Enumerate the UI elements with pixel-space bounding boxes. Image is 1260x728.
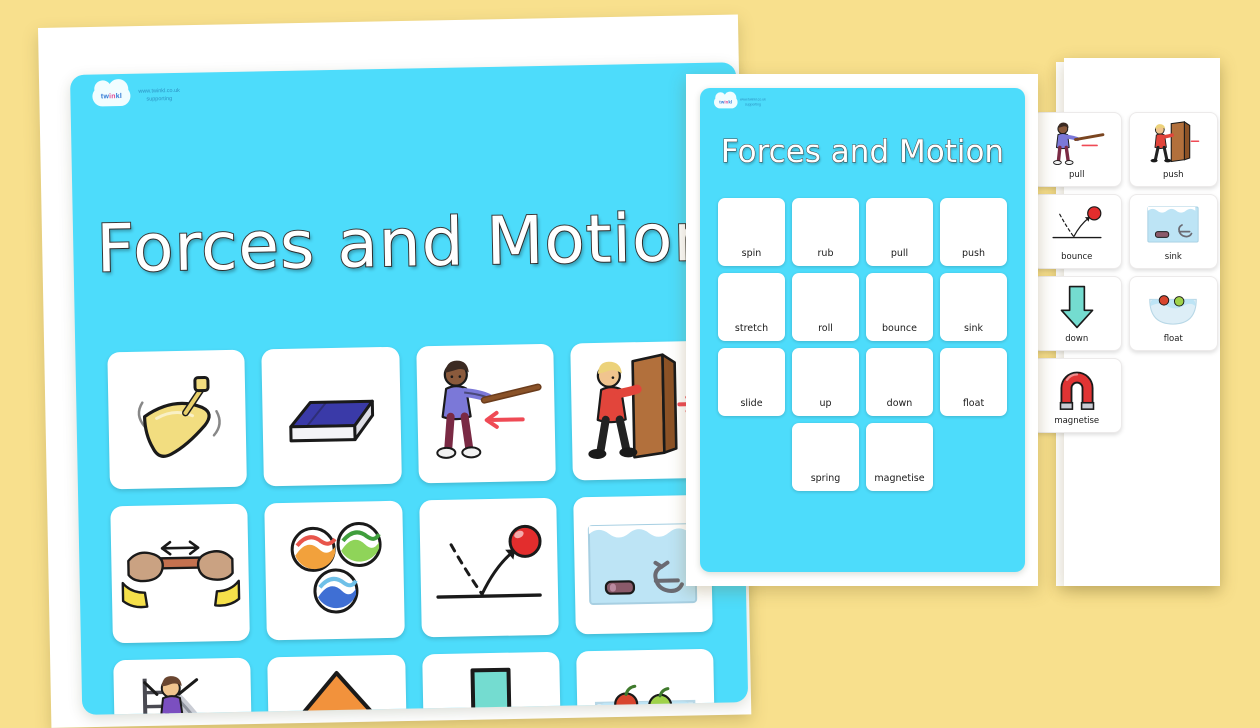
person-pushing-box-icon — [1144, 117, 1202, 170]
person-pulling-rope-icon — [1048, 117, 1106, 170]
word-card-spring[interactable]: spring — [792, 423, 859, 491]
marbles-icon — [280, 520, 388, 622]
main-poster-card-grid — [107, 341, 715, 715]
sheet-card-label: magnetise — [1054, 416, 1099, 428]
twinkl-logo[interactable]: twinkl www.twinkl.co.uk supporting — [714, 96, 766, 108]
word-card-roll[interactable]: roll — [792, 273, 859, 341]
main-poster-sheet[interactable]: twinkl www.twinkl.co.uk supporting Force… — [70, 62, 748, 715]
word-card-label: spring — [811, 473, 841, 484]
hands-stretching-elastic-icon — [117, 532, 243, 614]
word-card-label: down — [887, 398, 913, 409]
sheet-card-label: pull — [1069, 170, 1085, 182]
picture-card-up[interactable] — [267, 655, 407, 715]
word-card-label: push — [962, 248, 985, 259]
sheet-card-down[interactable]: down — [1032, 276, 1122, 351]
picture-card-stretch[interactable] — [110, 504, 250, 644]
sheet-card-sink[interactable]: sink — [1129, 194, 1219, 269]
cloud-logo-icon: twinkl — [714, 96, 738, 108]
word-card-up[interactable]: up — [792, 348, 859, 416]
word-card-label: float — [963, 398, 984, 409]
floating-fruit-bowl-icon — [1145, 281, 1201, 334]
brand-tagline-line2: supporting — [138, 95, 180, 104]
bouncing-ball-icon — [1048, 199, 1106, 252]
word-card-spin[interactable]: spin — [718, 198, 785, 266]
word-card-label: stretch — [735, 323, 768, 334]
word-card-stretch[interactable]: stretch — [718, 273, 785, 341]
sheet-card-float[interactable]: float — [1129, 276, 1219, 351]
picture-card-slide[interactable] — [113, 658, 253, 715]
word-card-sheet[interactable]: twinkl www.twinkl.co.uk supporting Force… — [700, 88, 1025, 572]
bouncing-ball-icon — [429, 518, 549, 616]
sinking-objects-tank-icon — [583, 517, 703, 611]
sheet-card-label: sink — [1165, 252, 1182, 264]
word-card-label: spin — [742, 248, 762, 259]
picture-card-sheet-grid: pull push — [1032, 112, 1218, 433]
word-card-label: magnetise — [874, 473, 924, 484]
playground-slide-icon — [126, 666, 240, 714]
word-card-slide[interactable]: slide — [718, 348, 785, 416]
picture-card-pull[interactable] — [416, 344, 556, 484]
word-card-down[interactable]: down — [866, 348, 933, 416]
brand-name-part3: kl — [116, 93, 122, 100]
word-card-label: rub — [818, 248, 834, 259]
word-card-label: roll — [818, 323, 833, 334]
horseshoe-magnet-icon — [1055, 363, 1099, 416]
word-card-pull[interactable]: pull — [866, 198, 933, 266]
sheet-card-push[interactable]: push — [1129, 112, 1219, 187]
sheet-card-magnetise[interactable]: magnetise — [1032, 358, 1122, 433]
picture-card-sheet-region: pull push — [1032, 0, 1260, 630]
word-card-magnetise[interactable]: magnetise — [866, 423, 933, 491]
orange-up-arrow-icon — [292, 666, 382, 715]
word-card-label: up — [819, 398, 831, 409]
sheet-card-pull[interactable]: pull — [1032, 112, 1122, 187]
page-title: Forces and Motion — [73, 198, 740, 288]
person-pulling-rope-icon — [426, 356, 546, 470]
picture-card-bounce[interactable] — [419, 498, 559, 638]
word-sheet-title: Forces and Motion — [700, 134, 1025, 170]
sheet-card-label: down — [1065, 334, 1088, 346]
person-pushing-box-icon — [579, 351, 701, 469]
brand-name-part1: tw — [101, 93, 109, 100]
brand-tagline: www.twinkl.co.uk supporting — [740, 97, 766, 107]
word-card-label: bounce — [882, 323, 917, 334]
word-card-label: slide — [740, 398, 762, 409]
sheet-card-label: bounce — [1061, 252, 1092, 264]
eraser-icon — [276, 380, 387, 452]
sheet-card-bounce[interactable]: bounce — [1032, 194, 1122, 269]
picture-card-rub[interactable] — [262, 347, 402, 487]
brand-name-part3: kl — [728, 100, 732, 104]
word-card-rub[interactable]: rub — [792, 198, 859, 266]
picture-card-down[interactable] — [422, 652, 562, 715]
word-card-label: pull — [891, 248, 908, 259]
sheet-card-label: float — [1164, 334, 1183, 346]
cloud-logo-icon: twinkl — [92, 86, 130, 107]
twinkl-logo[interactable]: twinkl www.twinkl.co.uk supporting — [92, 85, 180, 107]
brand-tagline-line2: supporting — [740, 102, 766, 107]
picture-card-roll[interactable] — [265, 501, 405, 641]
word-card-sink[interactable]: sink — [940, 273, 1007, 341]
sinking-objects-tank-icon — [1145, 199, 1201, 252]
word-card-float[interactable]: float — [940, 348, 1007, 416]
word-card-bounce[interactable]: bounce — [866, 273, 933, 341]
spinning-top-icon — [121, 370, 233, 468]
picture-card-spin[interactable] — [107, 350, 247, 490]
teal-down-arrow-icon — [1059, 281, 1095, 334]
word-card-label: sink — [964, 323, 983, 334]
word-card-grid: spin rub pull push stretch roll bounce s… — [718, 198, 1007, 491]
brand-tagline: www.twinkl.co.uk supporting — [138, 87, 180, 104]
word-card-push[interactable]: push — [940, 198, 1007, 266]
sheet-card-label: push — [1163, 170, 1184, 182]
